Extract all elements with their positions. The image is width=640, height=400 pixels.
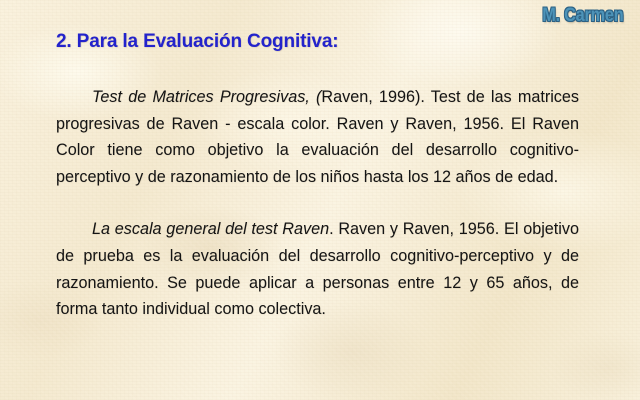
body-content: Test de Matrices Progresivas, (Raven, 19… <box>56 84 579 323</box>
paragraph-raven-color-title-rest: Raven, 1996). <box>321 88 424 106</box>
paragraph-raven-color: Test de Matrices Progresivas, (Raven, 19… <box>56 84 579 190</box>
page-title: 2. Para la Evaluación Cognitiva: <box>56 31 338 53</box>
slide-canvas: M. Carmen 2. Para la Evaluación Cognitiv… <box>0 0 640 400</box>
paragraph-raven-general-title-italic: La escala general del test Raven <box>92 220 329 238</box>
author-label: M. Carmen <box>542 5 623 27</box>
paragraph-raven-general: La escala general del test Raven. Raven … <box>56 216 579 322</box>
paragraph-raven-general-title-rest: . Raven y Raven, 1956. <box>329 220 499 238</box>
paragraph-raven-color-title-italic: Test de Matrices Progresivas, ( <box>92 88 321 106</box>
